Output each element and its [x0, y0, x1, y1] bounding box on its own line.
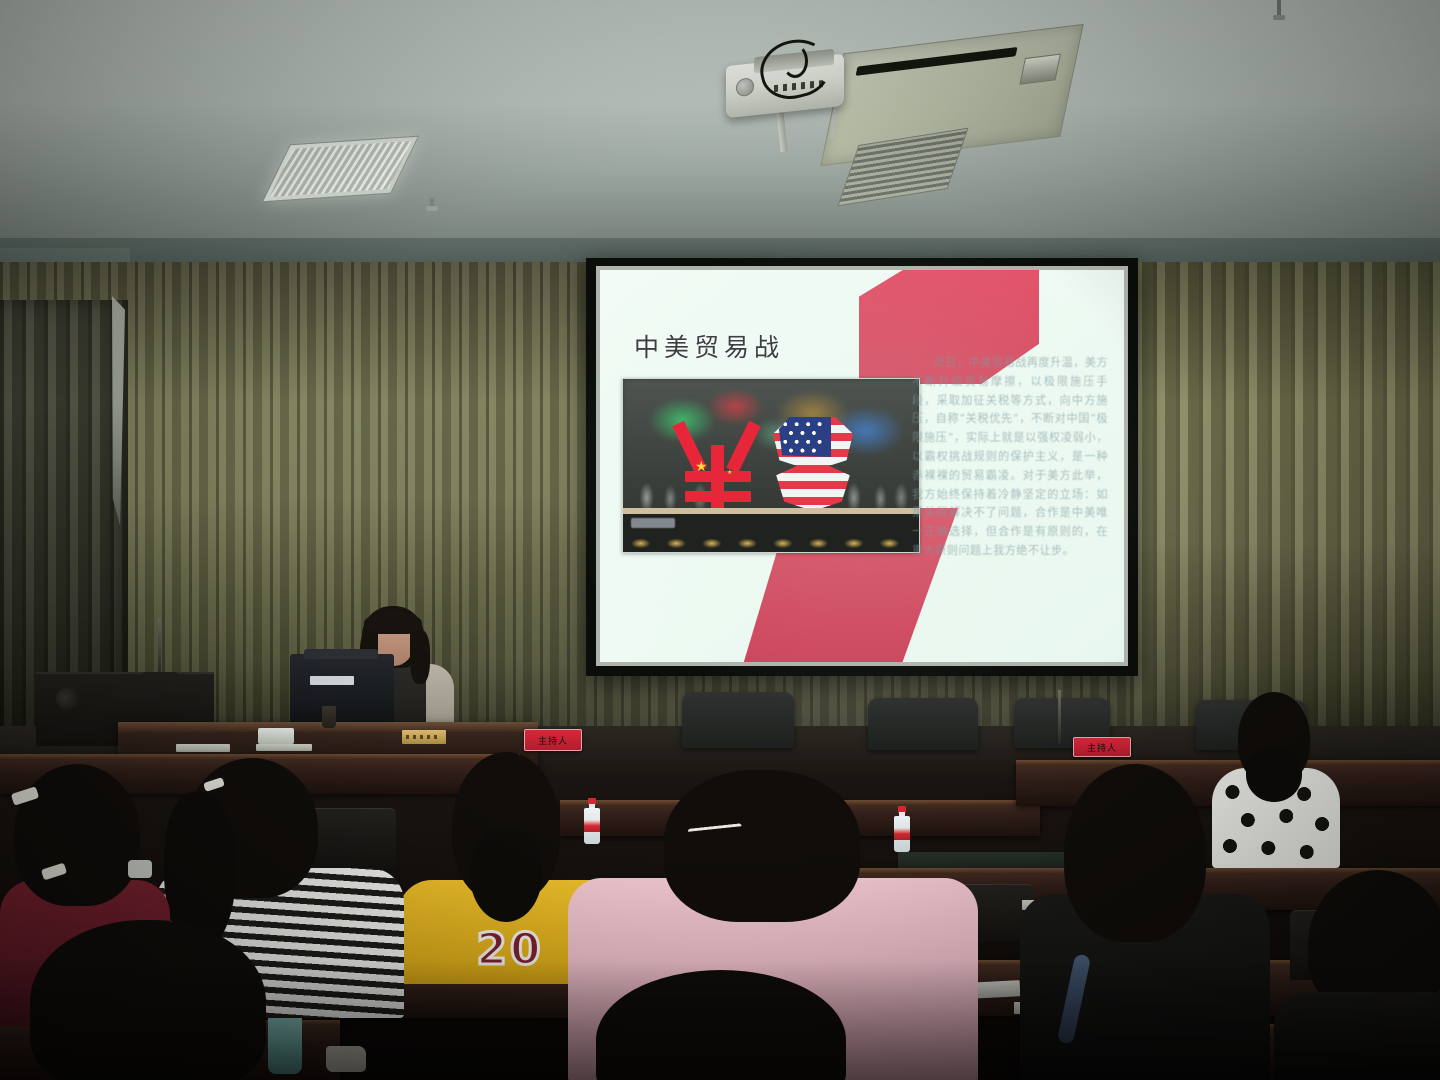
projection-screen: 中美贸易战 近日，中美贸易战再度升温，美方不断升级贸易摩擦，以极限施压手段，采取…: [586, 258, 1138, 676]
ac-side-vent: [1019, 54, 1061, 85]
slide-body-text: 近日，中美贸易战再度升温，美方不断升级贸易摩擦，以极限施压手段，采取加征关税等方…: [912, 354, 1108, 561]
desk-book: [402, 730, 446, 744]
stage-chair: [868, 698, 978, 750]
tissue-wad: [326, 1046, 366, 1072]
person-head: [1064, 764, 1206, 942]
slide-photo: [622, 378, 920, 553]
audience-member-far-right: [1274, 870, 1440, 1080]
photo-foreground-desk: [623, 508, 919, 552]
audience-member-backpack: [1020, 764, 1270, 1080]
person-ponytail: [470, 828, 542, 922]
jersey-number: 20: [476, 924, 543, 975]
name-placard-right: 主持人: [1073, 737, 1131, 757]
desk-paper: [256, 744, 312, 751]
name-placard-left: 主持人: [524, 729, 582, 751]
desk-paper: [176, 744, 230, 752]
projector-lens-icon: [736, 77, 754, 97]
desk-microphone: [1058, 690, 1061, 744]
sprinkler-head-icon: [428, 198, 436, 212]
suspended-ceiling: [0, 0, 1440, 258]
chinese-yuan-flag-symbol-icon: [675, 415, 761, 523]
placard-label: 主持人: [538, 734, 568, 747]
lecture-hall-photo: 中美贸易战 近日，中美贸易战再度升温，美方不断升级贸易摩擦，以极限施压手段，采取…: [0, 0, 1440, 1080]
person-head: [30, 920, 266, 1080]
person-head: [596, 970, 846, 1080]
face-mask: [128, 860, 152, 878]
desk-cup: [322, 706, 336, 728]
person-torso: [1274, 992, 1440, 1080]
stage-chair: [682, 692, 794, 748]
desk-tissue-box: [258, 728, 294, 744]
projector-cable: [782, 44, 808, 78]
podium-monitor[interactable]: [290, 654, 394, 726]
monitor-brand-label: [310, 676, 354, 685]
placard-label: 主持人: [1087, 741, 1117, 754]
presenter-hair-right: [410, 630, 430, 684]
photo-crowd-silhouettes: [623, 457, 919, 515]
person-head: [14, 764, 140, 906]
monitor-top-bezel: [304, 649, 378, 659]
sprinkler-head-icon: [1275, 0, 1283, 14]
podium-microphone-base: [142, 672, 178, 679]
slide-title: 中美贸易战: [634, 328, 784, 364]
us-dollar-flag-symbol-icon: [773, 411, 853, 523]
person-head: [664, 770, 860, 922]
audience-member-front-left: [30, 920, 280, 1080]
photo-watermark-logo: [631, 518, 675, 528]
presentation-slide: 中美贸易战 近日，中美贸易战再度升温，美方不断升级贸易摩擦，以极限施压手段，采取…: [600, 270, 1124, 662]
audience-member-front-center: [596, 970, 856, 1080]
podium-microphone: [158, 618, 161, 678]
ac-air-slot: [856, 47, 1018, 76]
ceiling-shading: [0, 0, 1440, 258]
